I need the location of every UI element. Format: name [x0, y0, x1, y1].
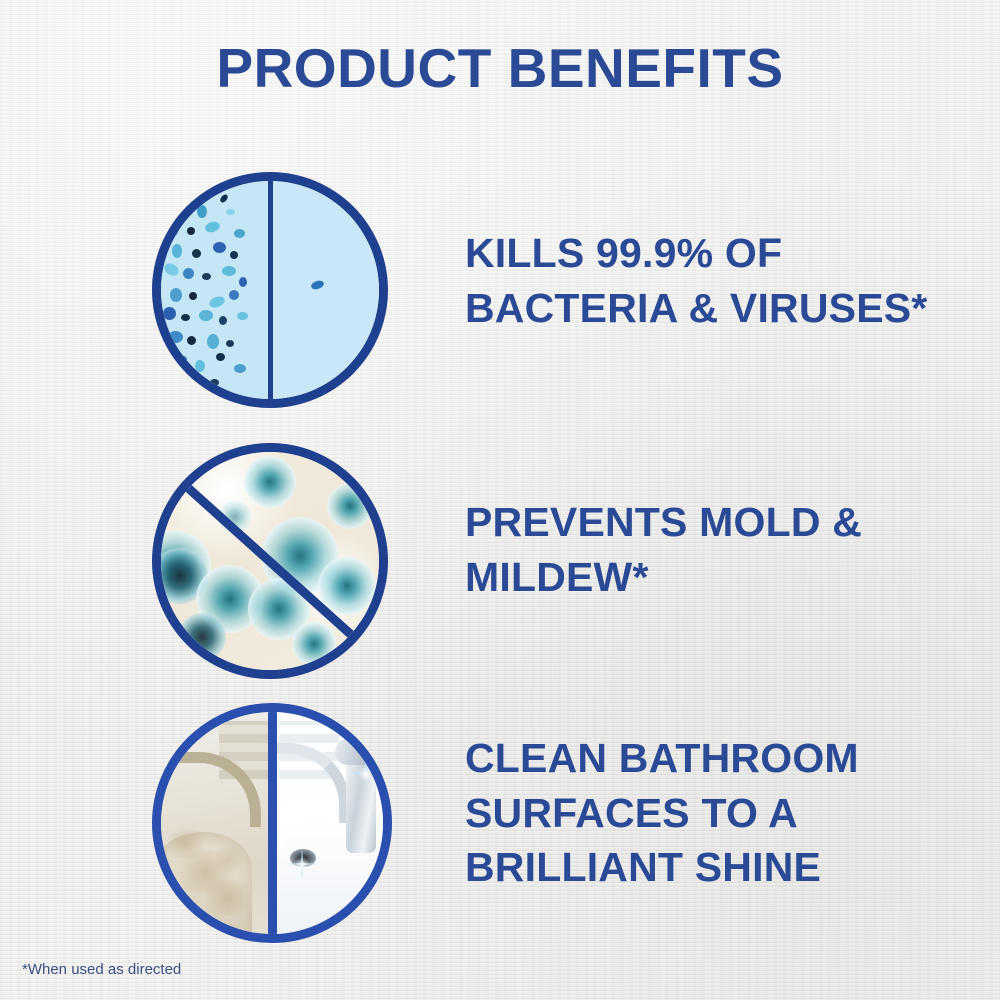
germs-after-half — [270, 181, 379, 399]
page-title: PRODUCT BENEFITS — [0, 36, 1000, 100]
benefit-text-brilliant-shine: CLEAN BATHROOM SURFACES TO A BRILLIANT S… — [465, 731, 985, 895]
shine-sparkle-icon — [301, 847, 303, 881]
benefit-text-prevents-mold: PREVENTS MOLD & MILDEW* — [465, 495, 985, 604]
sink-after-half — [272, 712, 383, 934]
germs-before-half — [161, 181, 270, 399]
petri-dish-before-after-icon — [152, 172, 388, 408]
product-benefits-poster: PRODUCT BENEFITS — [0, 0, 1000, 1000]
footnote: *When used as directed — [22, 961, 181, 978]
benefit-text-kills-germs: KILLS 99.9% OF BACTERIA & VIRUSES* — [465, 226, 985, 335]
shine-sparkle-small-icon — [365, 756, 367, 780]
sink-before-half — [161, 712, 272, 934]
no-mold-prohibition-icon — [152, 443, 388, 679]
before-after-divider — [268, 181, 273, 399]
bathroom-sink-before-after-icon — [152, 703, 392, 943]
before-after-divider — [268, 712, 277, 934]
